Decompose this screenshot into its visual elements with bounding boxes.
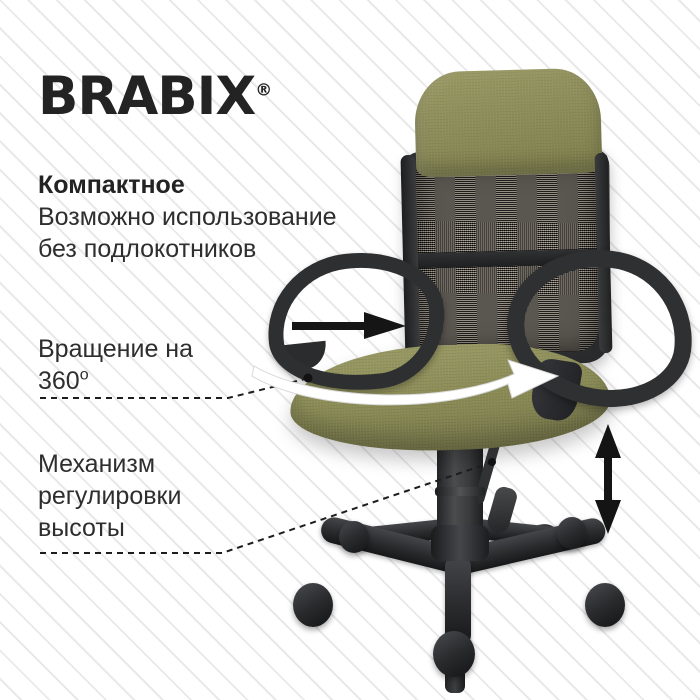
rotation-arrow-icon (246, 330, 566, 420)
armrest-arrow-icon (290, 308, 410, 342)
product-infographic-poster: BRABIX® Компактное Возможно использовани… (0, 0, 700, 700)
leader-dot-height (488, 458, 496, 466)
height-adjust-arrow-icon (588, 424, 628, 534)
leader-line-height (40, 463, 490, 553)
